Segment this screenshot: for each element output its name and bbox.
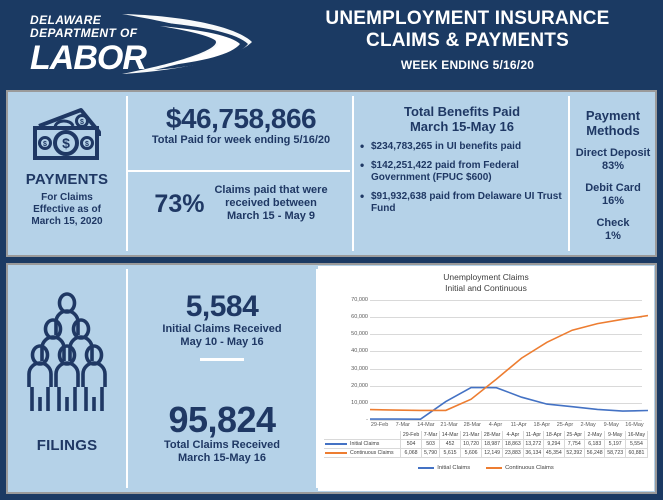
table-cell: 503 bbox=[422, 440, 440, 449]
chart-x-axis: 29-Feb7-Mar14-Mar21-Mar28-Mar4-Apr11-Apr… bbox=[368, 422, 646, 428]
total-claims-caption-line-1: Total Claims Received bbox=[132, 439, 312, 452]
payment-methods-title-line-2: Methods bbox=[572, 123, 654, 138]
benefits-bullet-item: $142,251,422 paid from Federal Governmen… bbox=[358, 160, 566, 184]
header-title-line-2: CLAIMS & PAYMENTS bbox=[275, 30, 660, 52]
chart-x-tick-label: 11-Apr bbox=[507, 422, 530, 428]
percent-caption: Claims paid that were received between M… bbox=[214, 184, 327, 223]
table-column-header: 4-Apr bbox=[503, 431, 523, 440]
table-corner-cell bbox=[324, 431, 401, 440]
table-cell: 7,754 bbox=[564, 440, 584, 449]
payment-methods-block: Payment Methods Direct Deposit 83% Debit… bbox=[572, 108, 654, 243]
table-cell: 10,720 bbox=[461, 440, 482, 449]
divider-vertical-1 bbox=[126, 96, 128, 251]
payments-subtitle: For Claims Effective as of March 15, 202… bbox=[12, 192, 122, 228]
table-row: Continuous Claims6,0685,7905,6155,60612,… bbox=[324, 449, 648, 458]
initial-claims-caption-line-1: Initial Claims Received bbox=[132, 323, 312, 336]
header-subtitle: WEEK ENDING 5/16/20 bbox=[275, 55, 660, 75]
table-cell: 5,554 bbox=[625, 440, 647, 449]
header-titles: UNEMPLOYMENT INSURANCE CLAIMS & PAYMENTS… bbox=[275, 8, 660, 75]
benefits-bullet-item: $91,932,638 paid from Delaware UI Trust … bbox=[358, 191, 566, 215]
table-cell: 6,068 bbox=[401, 449, 422, 458]
table-column-header: 2-May bbox=[584, 431, 604, 440]
legend-swatch-continuous bbox=[486, 467, 502, 469]
payment-method-value: 83% bbox=[572, 160, 654, 173]
table-cell: 45,354 bbox=[544, 449, 564, 458]
table-cell: 18,987 bbox=[482, 440, 503, 449]
table-cell: 13,272 bbox=[523, 440, 543, 449]
table-cell: 6,183 bbox=[584, 440, 604, 449]
total-claims-number: 95,824 bbox=[132, 401, 312, 439]
svg-text:$: $ bbox=[62, 135, 70, 151]
payment-method-row: Direct Deposit 83% bbox=[572, 147, 654, 173]
payment-method-row: Check 1% bbox=[572, 217, 654, 243]
table-cell: 5,197 bbox=[605, 440, 625, 449]
chart-x-tick-label: 18-Apr bbox=[530, 422, 553, 428]
payment-method-value: 1% bbox=[572, 230, 654, 243]
payment-method-label: Direct Deposit bbox=[572, 147, 654, 160]
table-cell: 56,248 bbox=[584, 449, 604, 458]
payment-method-row: Debit Card 16% bbox=[572, 182, 654, 208]
benefits-title-line-2: March 15-May 16 bbox=[358, 119, 566, 134]
chart-y-tick-label: 30,000 bbox=[320, 366, 371, 372]
table-cell: 36,134 bbox=[523, 449, 543, 458]
header-title-line-1: UNEMPLOYMENT INSURANCE bbox=[275, 8, 660, 30]
people-pyramid-icon bbox=[26, 291, 108, 426]
table-column-header: 11-Apr bbox=[523, 431, 543, 440]
legend-swatch-initial bbox=[418, 467, 434, 469]
chart-y-tick-label: 70,000 bbox=[320, 297, 371, 303]
table-row-header: Initial Claims bbox=[324, 440, 401, 449]
percent-caption-line-2: received between bbox=[214, 197, 327, 210]
chart-line-series-2 bbox=[370, 316, 648, 411]
benefits-title-line-1: Total Benefits Paid bbox=[358, 104, 566, 119]
table-column-header: 14-Mar bbox=[439, 431, 460, 440]
table-column-header: 9-May bbox=[605, 431, 625, 440]
money-icon: $ $ $ $ bbox=[29, 106, 105, 162]
table-cell: 60,881 bbox=[625, 449, 647, 458]
chart-y-tick-label: - bbox=[320, 417, 371, 423]
chart-x-tick-label: 14-Mar bbox=[414, 422, 437, 428]
table-cell: 58,723 bbox=[605, 449, 625, 458]
logo-line-3: LABOR bbox=[30, 41, 146, 75]
chart-plot bbox=[370, 300, 642, 420]
divider-vertical-4 bbox=[126, 269, 128, 488]
chart-series-svg bbox=[370, 300, 648, 420]
table-cell: 5,790 bbox=[422, 449, 440, 458]
chart-plot-area: -10,00020,00030,00040,00050,00060,00070,… bbox=[320, 300, 650, 420]
chart-y-tick-label: 20,000 bbox=[320, 383, 371, 389]
total-claims-stat: 95,824 Total Claims Received March 15-Ma… bbox=[132, 401, 312, 465]
chart-y-tick-label: 40,000 bbox=[320, 348, 371, 354]
payment-method-label: Check bbox=[572, 217, 654, 230]
benefits-bullet-list: $234,783,265 in UI benefits paid $142,25… bbox=[358, 141, 566, 215]
chart-x-tick-label: 4-Apr bbox=[484, 422, 507, 428]
header: DELAWARE DEPARTMENT OF LABOR UNEMPLOYMEN… bbox=[0, 0, 663, 88]
table-column-header: 28-Mar bbox=[482, 431, 503, 440]
table-column-header: 18-Apr bbox=[544, 431, 564, 440]
payments-band: $ $ $ $ PAYMENTS For Claims Effective as… bbox=[6, 90, 657, 257]
chart-x-tick-label: 21-Mar bbox=[438, 422, 461, 428]
chart-x-tick-label: 7-Mar bbox=[391, 422, 414, 428]
legend-item-continuous-claims: Continuous Claims bbox=[486, 465, 554, 471]
chart-x-tick-label: 29-Feb bbox=[368, 422, 391, 428]
chart-y-tick-label: 60,000 bbox=[320, 314, 371, 320]
table-cell: 504 bbox=[401, 440, 422, 449]
chart-title: Unemployment Claims Initial and Continuo… bbox=[318, 266, 654, 294]
payments-subtitle-line-1: For Claims bbox=[12, 192, 122, 204]
payments-label-column: $ $ $ $ PAYMENTS For Claims Effective as… bbox=[12, 96, 122, 251]
legend-label-continuous: Continuous Claims bbox=[505, 465, 554, 471]
table-cell: 23,883 bbox=[503, 449, 523, 458]
logo-wordmark: DELAWARE DEPARTMENT OF LABOR bbox=[30, 14, 146, 75]
table-cell: 18,863 bbox=[503, 440, 523, 449]
payments-subtitle-line-3: March 15, 2020 bbox=[12, 216, 122, 228]
percent-caption-line-3: March 15 - May 9 bbox=[214, 210, 327, 223]
benefits-title: Total Benefits Paid March 15-May 16 bbox=[358, 104, 566, 134]
filings-title: FILINGS bbox=[12, 437, 122, 454]
table-column-header: 16-May bbox=[625, 431, 647, 440]
chart-x-tick-label: 25-Apr bbox=[553, 422, 576, 428]
payments-subtitle-line-2: Effective as of bbox=[12, 204, 122, 216]
payment-method-value: 16% bbox=[572, 195, 654, 208]
table-column-header: 29-Feb bbox=[401, 431, 422, 440]
legend-item-initial-claims: Initial Claims bbox=[418, 465, 470, 471]
unemployment-claims-chart: Unemployment Claims Initial and Continuo… bbox=[318, 266, 654, 491]
table-series-swatch bbox=[325, 452, 347, 454]
chart-x-tick-label: 16-May bbox=[623, 422, 646, 428]
total-claims-caption-line-2: March 15-May 16 bbox=[132, 452, 312, 465]
svg-text:$: $ bbox=[85, 141, 89, 148]
table-row: Initial Claims50450345210,72018,98718,86… bbox=[324, 440, 648, 449]
table-column-header: 21-Mar bbox=[461, 431, 482, 440]
table-cell: 52,392 bbox=[564, 449, 584, 458]
table-cell: 9,294 bbox=[544, 440, 564, 449]
divider-vertical-2 bbox=[352, 96, 354, 251]
total-benefits-block: Total Benefits Paid March 15-May 16 $234… bbox=[358, 104, 566, 222]
table-series-swatch bbox=[325, 443, 347, 445]
stat-divider bbox=[200, 358, 244, 361]
divider-horizontal-1 bbox=[128, 170, 350, 172]
table-cell: 452 bbox=[439, 440, 460, 449]
initial-claims-caption-line-2: May 10 - May 16 bbox=[132, 336, 312, 349]
initial-claims-stat: 5,584 Initial Claims Received May 10 - M… bbox=[132, 291, 312, 370]
chart-y-tick-label: 50,000 bbox=[320, 331, 371, 337]
table-cell: 5,615 bbox=[439, 449, 460, 458]
chart-title-line-2: Initial and Continuous bbox=[318, 283, 654, 294]
chart-x-tick-label: 2-May bbox=[577, 422, 600, 428]
filings-label-column: FILINGS bbox=[12, 269, 122, 488]
payment-methods-title-line-1: Payment bbox=[572, 108, 654, 123]
legend-label-initial: Initial Claims bbox=[437, 465, 470, 471]
payments-title: PAYMENTS bbox=[12, 171, 122, 188]
total-paid-amount: $46,758,866 bbox=[132, 104, 350, 134]
table-cell: 5,606 bbox=[461, 449, 482, 458]
svg-text:$: $ bbox=[43, 141, 47, 148]
percent-caption-line-1: Claims paid that were bbox=[214, 184, 327, 197]
payment-method-label: Debit Card bbox=[572, 182, 654, 195]
percent-value: 73% bbox=[154, 191, 204, 217]
chart-data-table: 29-Feb7-Mar14-Mar21-Mar28-Mar4-Apr11-Apr… bbox=[324, 431, 648, 458]
chart-x-tick-label: 28-Mar bbox=[461, 422, 484, 428]
table-row-header: Continuous Claims bbox=[324, 449, 401, 458]
total-paid-block: $46,758,866 Total Paid for week ending 5… bbox=[132, 104, 350, 147]
total-paid-caption: Total Paid for week ending 5/16/20 bbox=[132, 134, 350, 147]
initial-claims-number: 5,584 bbox=[132, 291, 312, 323]
payment-methods-title: Payment Methods bbox=[572, 108, 654, 138]
table-column-header: 25-Apr bbox=[564, 431, 584, 440]
divider-vertical-3 bbox=[568, 96, 570, 251]
infographic-page: DELAWARE DEPARTMENT OF LABOR UNEMPLOYMEN… bbox=[0, 0, 663, 500]
chart-x-tick-label: 9-May bbox=[600, 422, 623, 428]
chart-line-series-1 bbox=[370, 388, 648, 420]
table-column-header: 7-Mar bbox=[422, 431, 440, 440]
payments-band-inner: $ $ $ $ PAYMENTS For Claims Effective as… bbox=[8, 92, 655, 255]
table-cell: 12,149 bbox=[482, 449, 503, 458]
chart-legend: Initial Claims Continuous Claims bbox=[318, 465, 654, 471]
svg-text:$: $ bbox=[80, 119, 84, 126]
chart-y-tick-label: 10,000 bbox=[320, 400, 371, 406]
delaware-dol-logo: DELAWARE DEPARTMENT OF LABOR bbox=[12, 6, 267, 82]
chart-title-line-1: Unemployment Claims bbox=[318, 272, 654, 283]
benefits-bullet-item: $234,783,265 in UI benefits paid bbox=[358, 141, 566, 153]
chart-gridline bbox=[370, 420, 642, 421]
percent-paid-block: 73% Claims paid that were received betwe… bbox=[132, 184, 350, 223]
